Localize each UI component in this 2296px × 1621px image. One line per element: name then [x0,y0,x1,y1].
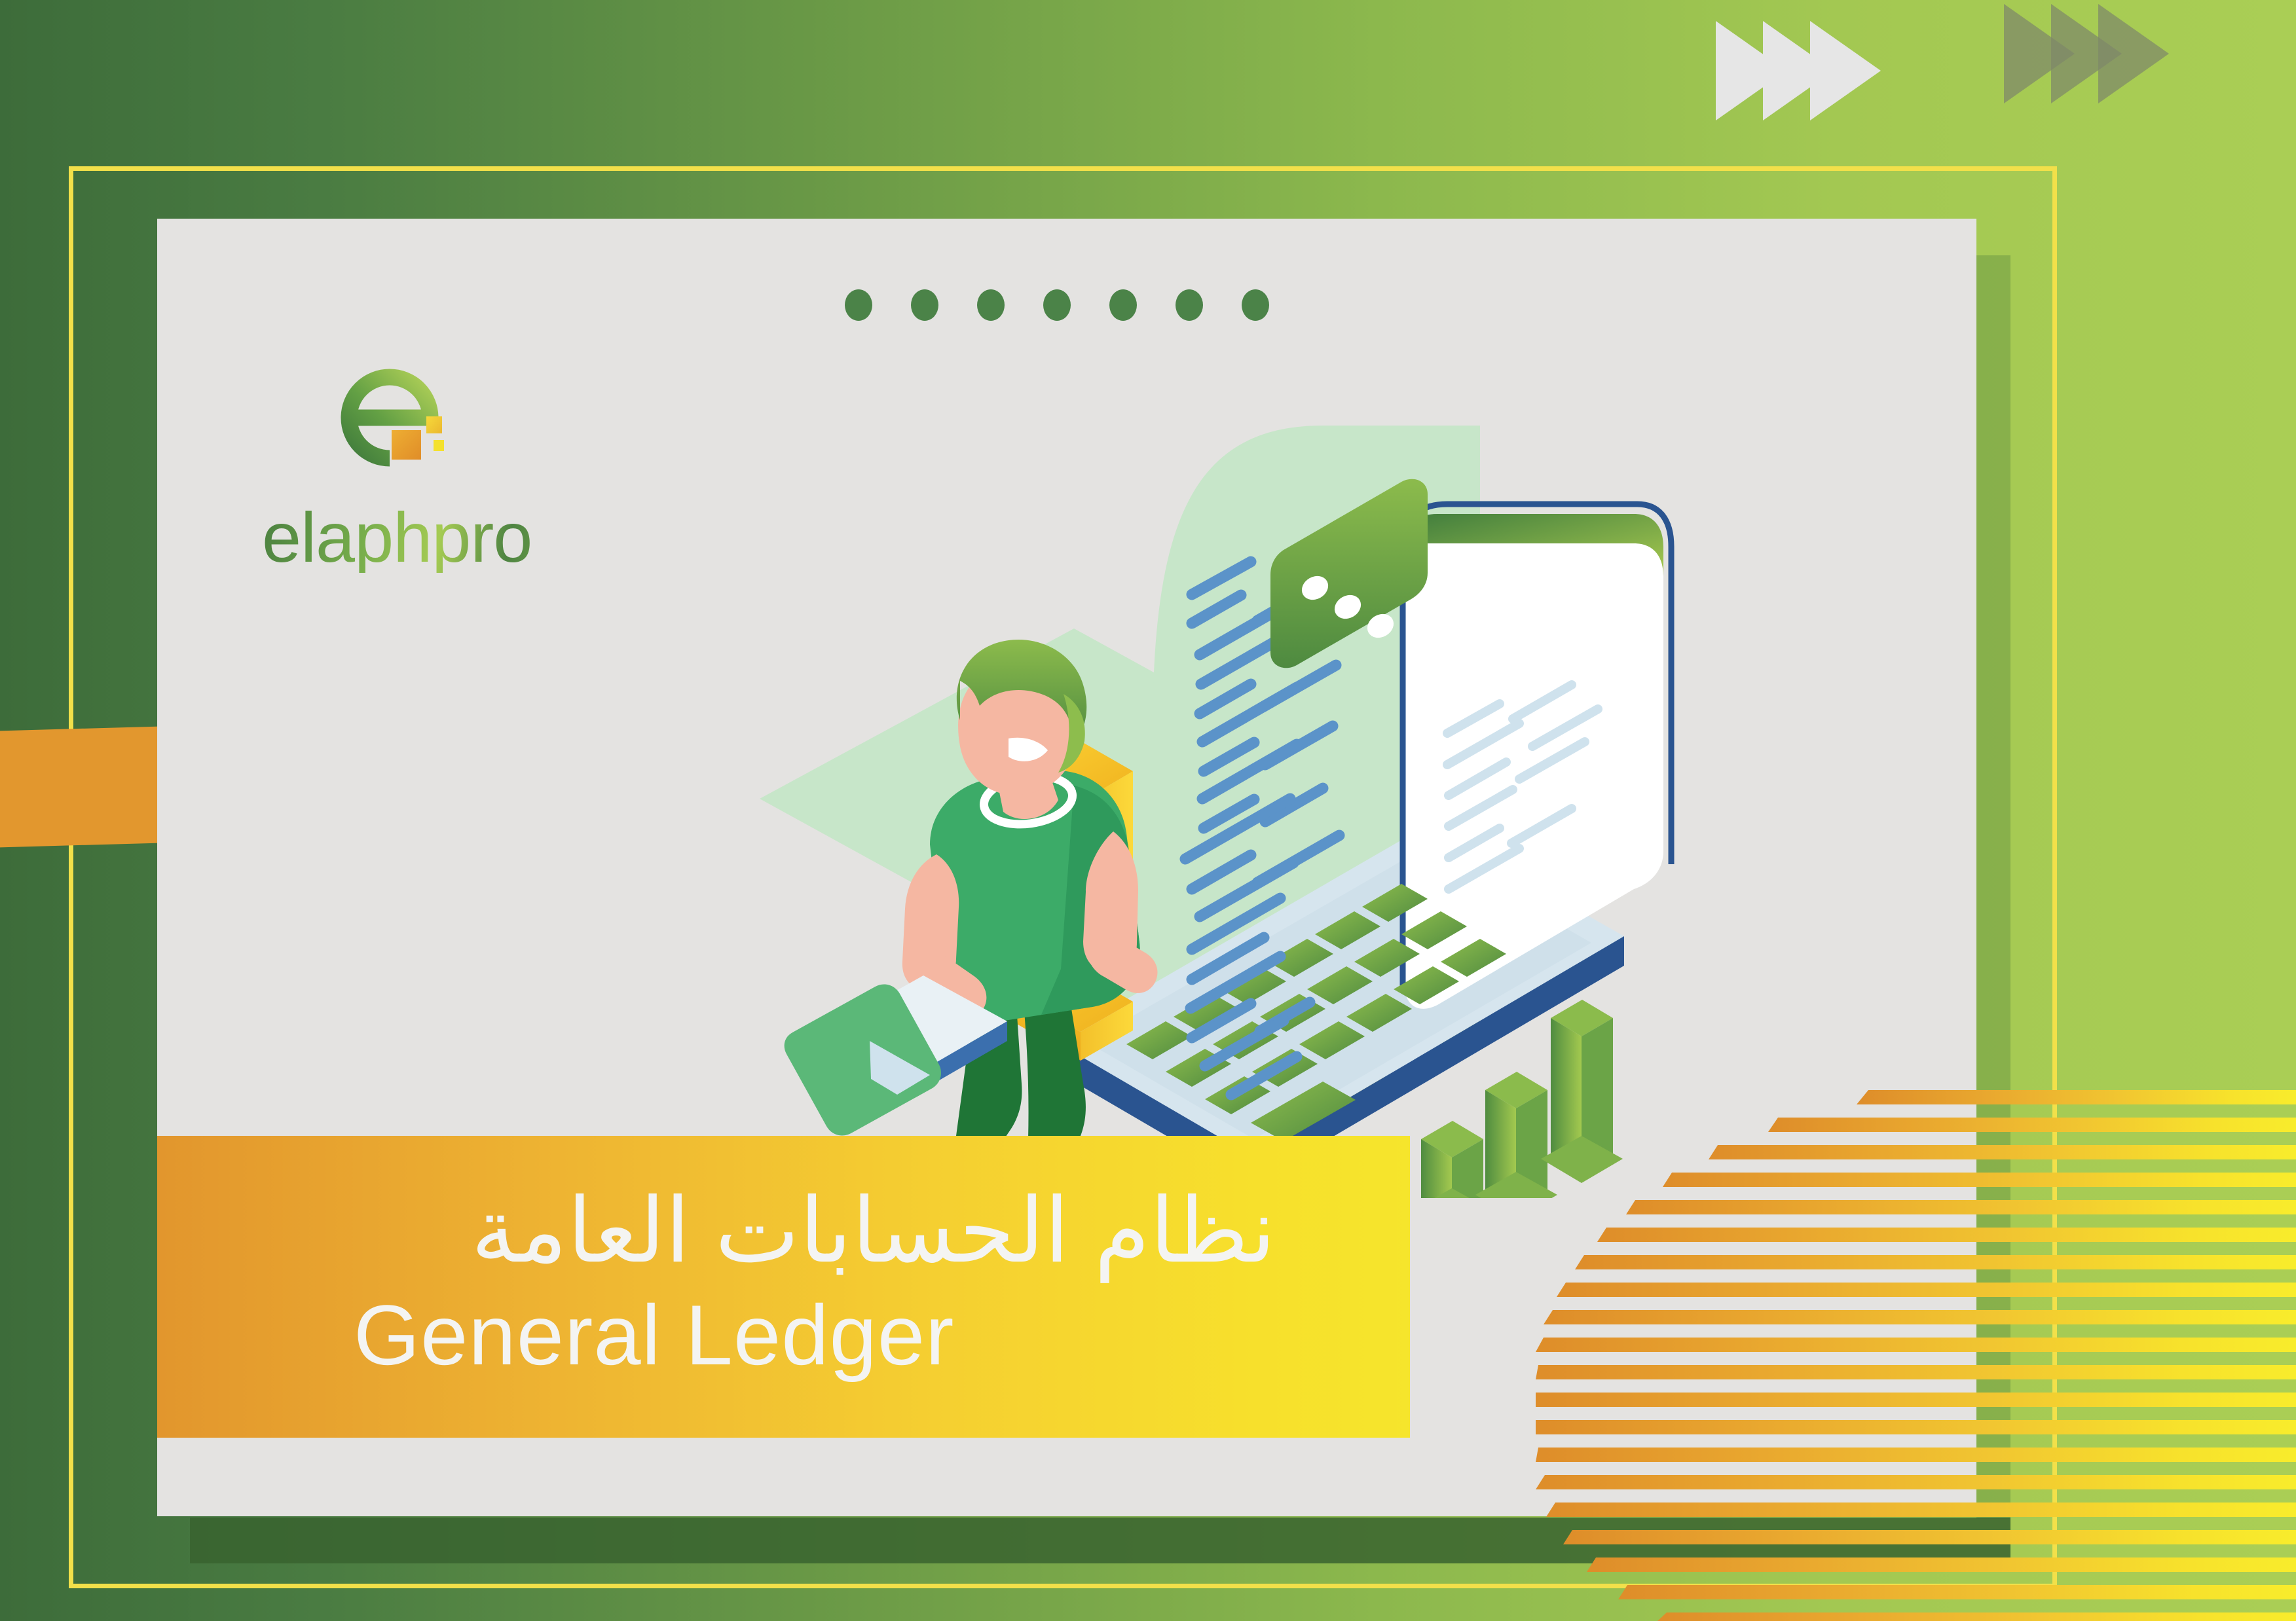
title-english: General Ledger [354,1286,954,1385]
title-arabic: نظام الحسابات العامة [471,1175,1276,1287]
hero-illustration [733,327,1703,1198]
brand-logo: elaphpro [262,357,602,573]
dot-icon [845,289,872,321]
orange-accent-band [0,726,165,847]
dot-icon [1043,289,1071,321]
dot-icon [911,289,938,321]
logo-wordmark: elaphpro [262,502,602,573]
chevron-right-icon [1810,21,1881,120]
dot-icon [977,289,1005,321]
poster-canvas: elaphpro [0,0,2296,1621]
dot-icon [1242,289,1269,321]
chevron-group-light [1716,21,1881,120]
chevron-right-icon [2098,4,2169,103]
logo-e-mark-icon [327,357,498,488]
striped-arc-decoration [1536,1070,2296,1621]
dot-icon [1176,289,1203,321]
dot-icon [1109,289,1137,321]
title-banner: نظام الحسابات العامة General Ledger [157,1136,1410,1438]
chevron-group-dim [2004,4,2169,103]
dot-row-decoration [845,289,1269,321]
